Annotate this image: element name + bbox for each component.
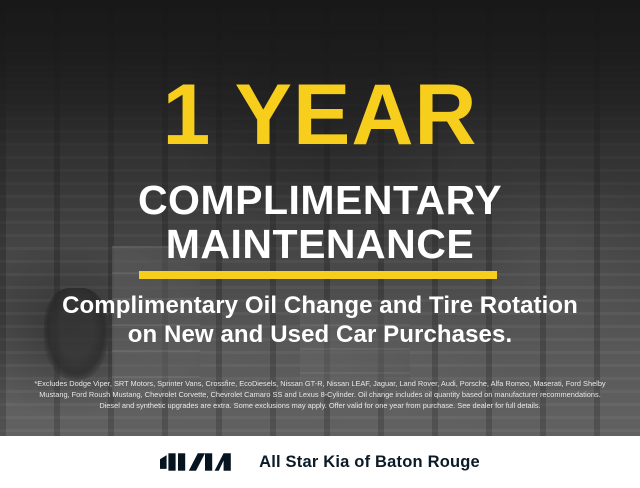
subheadline-line-1: Complimentary Oil Change and Tire Rotati… bbox=[0, 291, 640, 320]
disclaimer-text: *Excludes Dodge Viper, SRT Motors, Sprin… bbox=[14, 378, 626, 412]
hero-section: 1 YEAR COMPLIMENTARY MAINTENANCE Complim… bbox=[0, 0, 640, 436]
headline-secondary-line-2: MAINTENANCE bbox=[0, 222, 640, 266]
disclaimer-line-1: *Excludes Dodge Viper, SRT Motors, Sprin… bbox=[14, 378, 626, 389]
footer-brand-lockup: All Star Kia of Baton Rouge bbox=[160, 452, 480, 472]
yellow-divider-bar bbox=[139, 271, 497, 279]
footer-bar: All Star Kia of Baton Rouge bbox=[0, 436, 640, 488]
headline-primary: 1 YEAR bbox=[0, 72, 640, 158]
dealer-name: All Star Kia of Baton Rouge bbox=[259, 453, 480, 472]
promotional-banner: 1 YEAR COMPLIMENTARY MAINTENANCE Complim… bbox=[0, 0, 640, 488]
disclaimer-line-2: Mustang, Ford Roush Mustang, Chevrolet C… bbox=[14, 389, 626, 400]
hero-content: 1 YEAR COMPLIMENTARY MAINTENANCE Complim… bbox=[0, 0, 640, 436]
disclaimer-line-3: Diesel and synthetic upgrades are extra.… bbox=[14, 400, 626, 411]
kia-logo bbox=[160, 452, 238, 472]
headline-secondary-line-1: COMPLIMENTARY bbox=[0, 178, 640, 222]
subheadline-line-2: on New and Used Car Purchases. bbox=[0, 320, 640, 349]
subheadline: Complimentary Oil Change and Tire Rotati… bbox=[0, 291, 640, 349]
